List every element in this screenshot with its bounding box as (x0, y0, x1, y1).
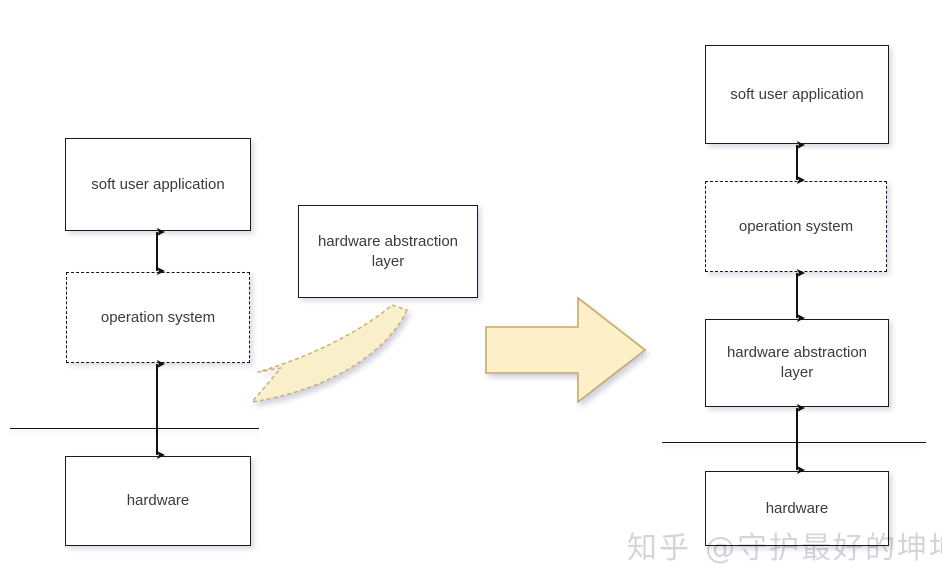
box-label: hardware abstraction layer (714, 343, 880, 383)
watermark-author-handle: @守护最好的坤坤 (705, 531, 942, 566)
box-left-soft-user-application: soft user application (65, 138, 251, 231)
box-label: soft user application (91, 175, 224, 195)
watermark: 知乎@守护最好的坤坤 (627, 523, 942, 567)
transform-right-arrow (486, 298, 645, 402)
box-hardware-abstraction-layer-callout: hardware abstraction layer (298, 205, 478, 298)
box-label: hardware (766, 499, 829, 519)
box-label: hardware (127, 491, 190, 511)
insert-hal-curved-arrow (252, 305, 407, 402)
right-hardware-boundary-line (662, 442, 926, 443)
box-label: soft user application (730, 85, 863, 105)
box-left-operation-system: operation system (66, 272, 250, 363)
box-label: operation system (739, 217, 853, 237)
box-label: hardware abstraction layer (307, 232, 469, 272)
box-right-hardware-abstraction-layer: hardware abstraction layer (705, 319, 889, 407)
box-left-hardware: hardware (65, 456, 251, 546)
box-right-operation-system: operation system (705, 181, 887, 272)
box-label: operation system (101, 308, 215, 328)
box-right-soft-user-application: soft user application (705, 45, 889, 144)
diagram-canvas: soft user application operation system h… (0, 0, 942, 587)
watermark-site-logo: 知乎 (627, 531, 691, 566)
left-hardware-boundary-line (10, 428, 259, 429)
